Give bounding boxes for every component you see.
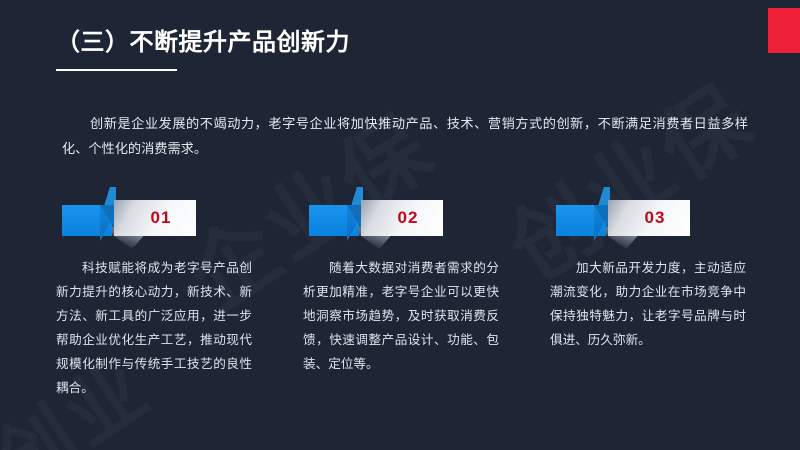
content-column-03: 03 加大新品开发力度，主动适应潮流变化，助力企业在市场竞争中保持独特魅力，让老…: [550, 186, 746, 413]
badge-number-label: 02: [398, 208, 419, 228]
column-body-text: 加大新品开发力度，主动适应潮流变化，助力企业在市场竞争中保持独特魅力，让老字号品…: [550, 256, 746, 352]
title-underline-rule: [56, 69, 177, 71]
presentation-slide: 企业保 创业保 创业 （三）不断提升产品创新力 创新是企业发展的不竭动力，老字号…: [0, 0, 800, 450]
badge-number-label: 03: [645, 208, 666, 228]
badge-plate: 01: [114, 200, 196, 236]
slide-header: （三）不断提升产品创新力: [56, 28, 350, 71]
page-title: （三）不断提升产品创新力: [56, 28, 350, 58]
badge-plate: 03: [608, 200, 690, 236]
column-body-text: 随着大数据对消费者需求的分析更加精准，老字号企业可以更快地洞察市场趋势，及时获取…: [303, 256, 499, 376]
badge-number-label: 01: [151, 208, 172, 228]
content-columns: 01 科技赋能将成为老字号产品创新力提升的核心动力，新技术、新方法、新工具的广泛…: [56, 186, 746, 413]
number-badge-02: 02: [303, 186, 499, 248]
badge-plate: 02: [361, 200, 443, 236]
intro-paragraph: 创新是企业发展的不竭动力，老字号企业将加快推动产品、技术、营销方式的创新，不断满…: [62, 111, 748, 161]
number-badge-03: 03: [550, 186, 746, 248]
number-badge-01: 01: [56, 186, 252, 248]
column-body-text: 科技赋能将成为老字号产品创新力提升的核心动力，新技术、新方法、新工具的广泛应用，…: [56, 256, 252, 400]
content-column-01: 01 科技赋能将成为老字号产品创新力提升的核心动力，新技术、新方法、新工具的广泛…: [56, 186, 252, 413]
red-corner-accent: [768, 8, 800, 53]
content-column-02: 02 随着大数据对消费者需求的分析更加精准，老字号企业可以更快地洞察市场趋势，及…: [303, 186, 499, 413]
